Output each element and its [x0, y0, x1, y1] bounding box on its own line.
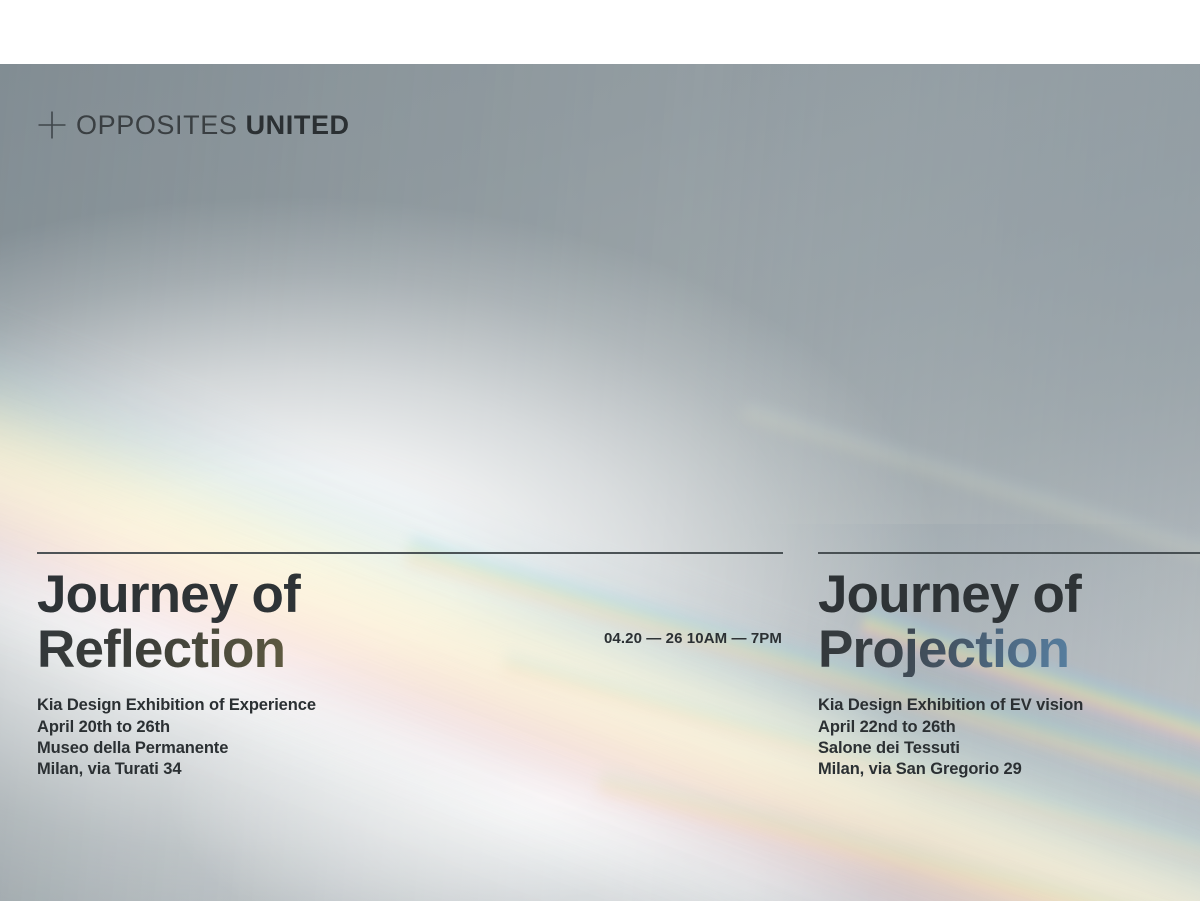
detail-projection-dates: April 22nd to 26th [818, 717, 1200, 738]
brand-word-united: UNITED [246, 110, 350, 140]
poster-canvas: OPPOSITES UNITED Journey of Reflection K… [0, 64, 1200, 901]
divider-rule-right [818, 552, 1200, 554]
plus-icon [37, 110, 67, 140]
brand-word-opposites: OPPOSITES [76, 110, 237, 140]
detail-reflection-subtitle: Kia Design Exhibition of Experience [37, 695, 783, 716]
headline-reflection: Journey of Reflection [37, 568, 783, 677]
detail-projection-subtitle: Kia Design Exhibition of EV vision [818, 695, 1200, 716]
schedule-text: 04.20 — 26 10AM — 7PM [510, 630, 782, 647]
headline-projection-line1: Journey of [818, 568, 1200, 623]
details-projection: Kia Design Exhibition of EV vision April… [818, 695, 1200, 781]
detail-projection-venue: Salone dei Tessuti [818, 738, 1200, 759]
headline-projection: Journey of Projection [818, 568, 1200, 677]
divider-rule-left [37, 552, 783, 554]
detail-reflection-address: Milan, via Turati 34 [37, 759, 783, 780]
detail-projection-address: Milan, via San Gregorio 29 [818, 759, 1200, 780]
event-block-reflection: Journey of Reflection Kia Design Exhibit… [37, 552, 783, 781]
details-reflection: Kia Design Exhibition of Experience Apri… [37, 695, 783, 781]
detail-reflection-venue: Museo della Permanente [37, 738, 783, 759]
event-block-projection: Journey of Projection Kia Design Exhibit… [818, 552, 1200, 781]
top-white-letterbox-band [0, 0, 1200, 64]
headline-projection-line2: Projection [818, 623, 1200, 678]
brand-wordmark: OPPOSITES UNITED [76, 112, 350, 139]
detail-reflection-dates: April 20th to 26th [37, 717, 783, 738]
headline-reflection-line1: Journey of [37, 568, 783, 623]
poster-content: OPPOSITES UNITED Journey of Reflection K… [0, 64, 1200, 901]
brand-lockup: OPPOSITES UNITED [37, 110, 350, 140]
